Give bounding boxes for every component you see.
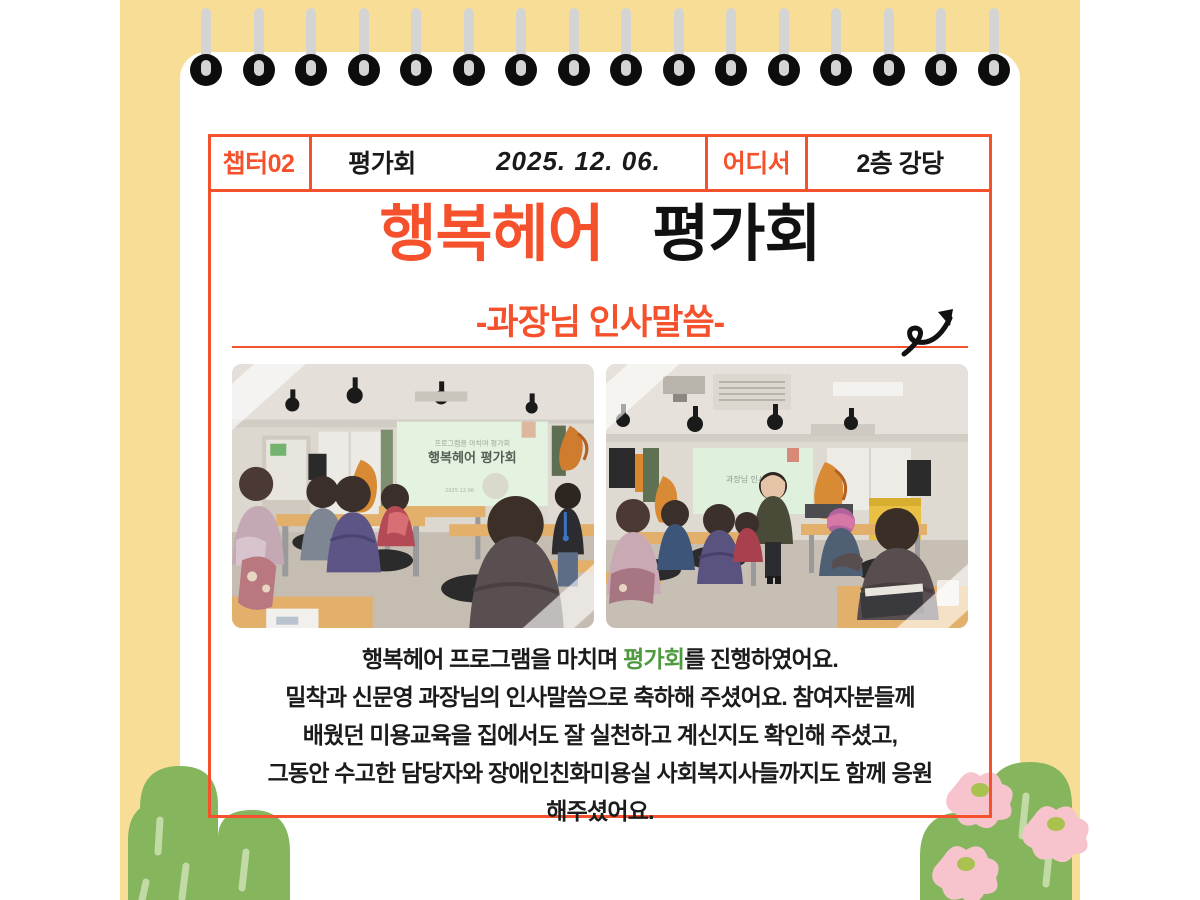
- spiral-ring: [766, 0, 802, 100]
- spiral-ring: [976, 0, 1012, 100]
- spiral-ring: [871, 0, 907, 100]
- body-line-4: 그동안 수고한 담당자와 장애인친화미용실 사회복지사들까지도 함께 응원: [216, 754, 984, 792]
- ring-hole: [989, 60, 999, 76]
- body-line-1-pre: 행복헤어 프로그램을 마치며: [362, 646, 623, 672]
- spiral-ring: [346, 0, 382, 100]
- svg-text:행복헤어 평가회: 행복헤어 평가회: [428, 450, 517, 466]
- title-divider: [232, 346, 968, 348]
- header-type: 평가회: [312, 134, 452, 189]
- svg-text:프로그램을 마치며 평가회: 프로그램을 마치며 평가회: [435, 439, 510, 448]
- ring-hole: [936, 60, 946, 76]
- spiral-ring: [503, 0, 539, 100]
- photo-left[interactable]: 프로그램을 마치며 평가회 행복헤어 평가회 2025.12.06: [232, 364, 594, 628]
- body-line-2: 밀착과 신문영 과장님의 인사말씀으로 축하해 주셨어요. 참여자분들께: [216, 678, 984, 716]
- ring-hole: [516, 60, 526, 76]
- body-line-5: 해주셨어요.: [216, 792, 984, 830]
- ring-hole: [779, 60, 789, 76]
- ring-hole: [674, 60, 684, 76]
- spiral-ring: [608, 0, 644, 100]
- title-black: 평가회: [652, 200, 820, 269]
- ring-hole: [306, 60, 316, 76]
- ring-hole: [569, 60, 579, 76]
- spiral-ring: [661, 0, 697, 100]
- body-line-3: 배웠던 미용교육을 집에서도 잘 실천하고 계신지도 확인해 주셨고,: [216, 716, 984, 754]
- photo-gallery: 프로그램을 마치며 평가회 행복헤어 평가회 2025.12.06: [232, 364, 968, 628]
- header-where-label: 어디서: [708, 134, 808, 189]
- header-date: 2025. 12. 06.: [452, 134, 708, 189]
- spiral-ring: [451, 0, 487, 100]
- spiral-binding: [180, 0, 1020, 110]
- ring-hole: [831, 60, 841, 76]
- ring-hole: [359, 60, 369, 76]
- curly-arrow-icon: [900, 302, 964, 358]
- spiral-ring: [293, 0, 329, 100]
- body-highlight: 평가회: [623, 646, 684, 672]
- ring-hole: [411, 60, 421, 76]
- header-place: 2층 강당: [808, 134, 992, 189]
- title-orange: 행복헤어: [380, 200, 604, 269]
- spiral-ring: [923, 0, 959, 100]
- photo-right[interactable]: 과장님 인사말씀: [606, 364, 968, 628]
- spiral-ring: [398, 0, 434, 100]
- spiral-ring: [188, 0, 224, 100]
- ring-hole: [201, 60, 211, 76]
- spiral-ring: [713, 0, 749, 100]
- body-paragraph: 행복헤어 프로그램을 마치며 평가회를 진행하였어요. 밀착과 신문영 과장님의…: [216, 640, 984, 830]
- ring-hole: [254, 60, 264, 76]
- header-row: 챕터02 평가회 2025. 12. 06. 어디서 2층 강당: [208, 134, 992, 192]
- svg-text:2025.12.06: 2025.12.06: [445, 488, 474, 494]
- ring-hole: [464, 60, 474, 76]
- page-title: 행복헤어 평가회: [208, 204, 992, 266]
- body-line-1-post: 를 진행하였어요.: [684, 646, 838, 672]
- poster-canvas: 챕터02 평가회 2025. 12. 06. 어디서 2층 강당 행복헤어 평가…: [0, 0, 1200, 900]
- body-line-1: 행복헤어 프로그램을 마치며 평가회를 진행하였어요.: [216, 640, 984, 678]
- spiral-ring: [818, 0, 854, 100]
- ring-hole: [726, 60, 736, 76]
- ring-hole: [621, 60, 631, 76]
- page-subtitle: -과장님 인사말씀-: [208, 294, 992, 345]
- spiral-ring: [556, 0, 592, 100]
- spiral-ring: [241, 0, 277, 100]
- header-chapter: 챕터02: [208, 134, 312, 189]
- ring-hole: [884, 60, 894, 76]
